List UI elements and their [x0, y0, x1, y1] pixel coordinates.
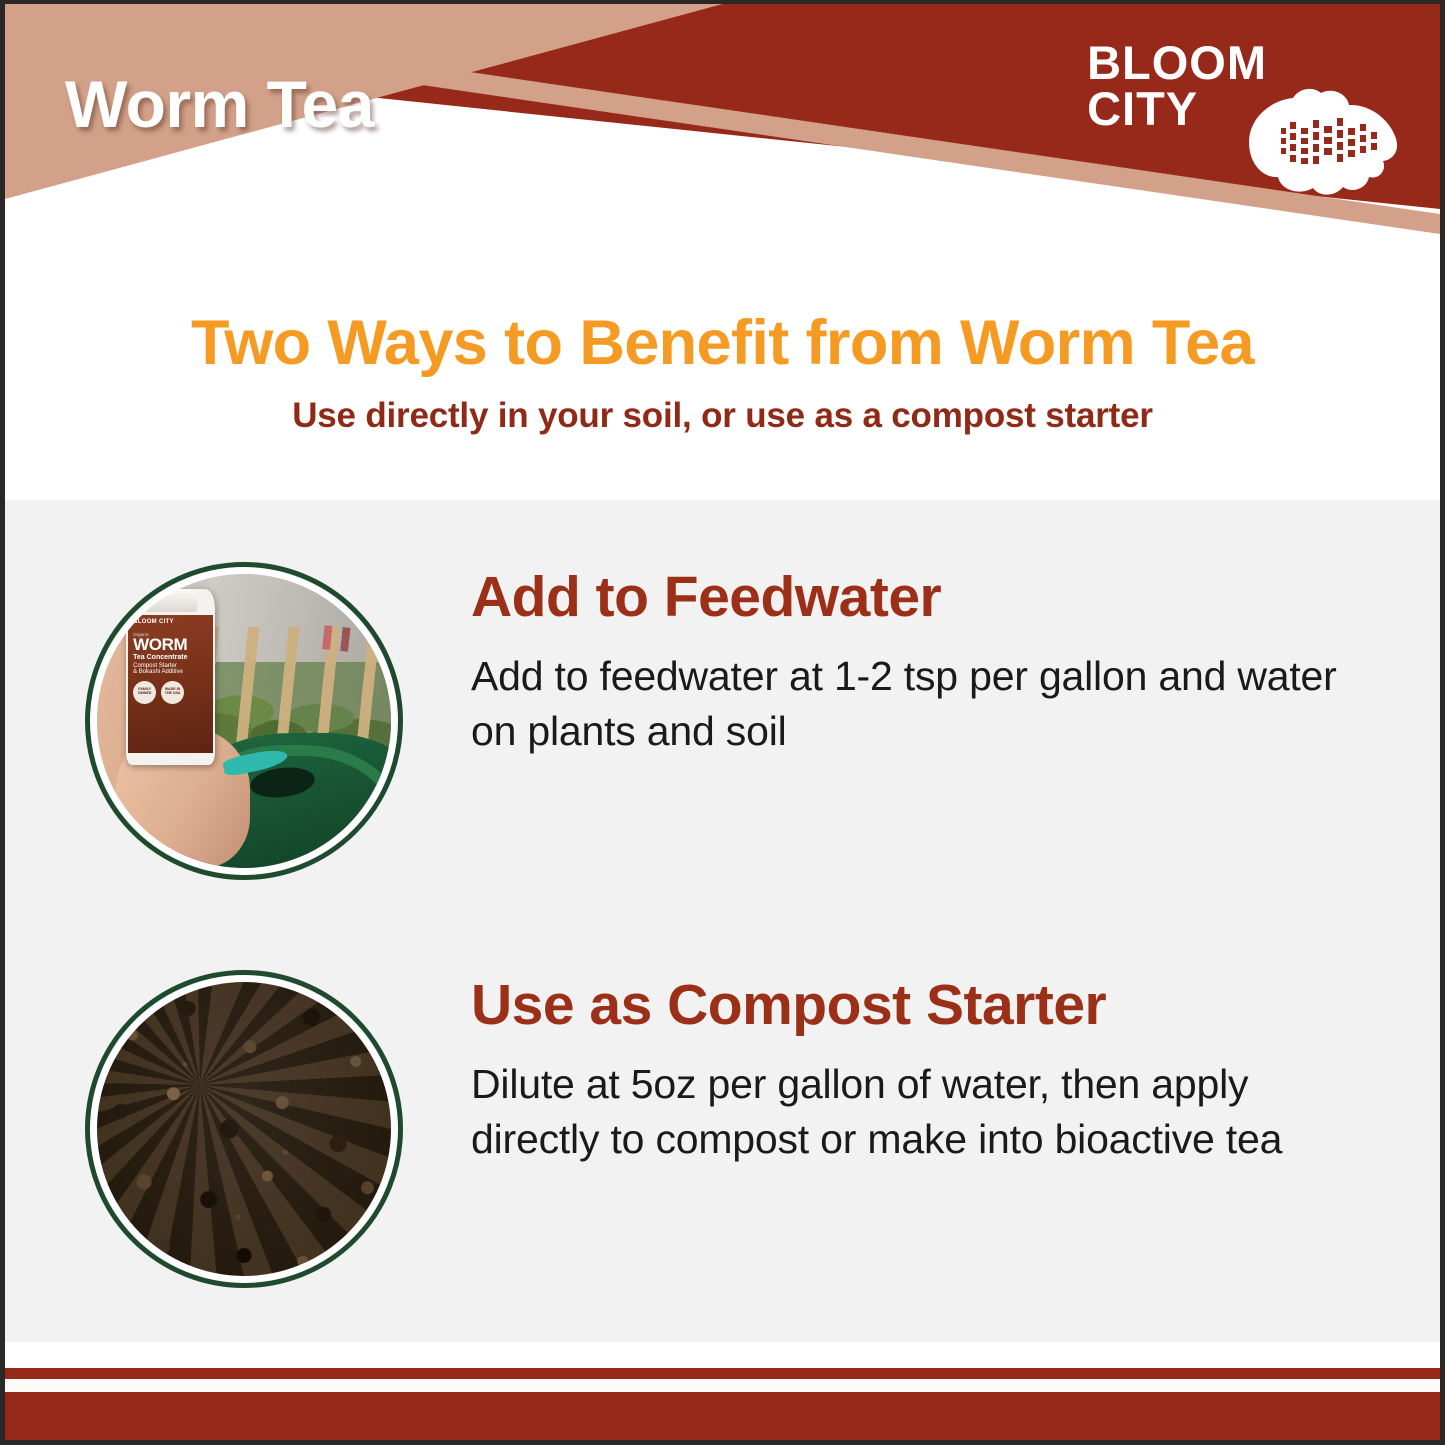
product-bottle: BLOOM CITY Organic WORM Tea Concentrate …: [126, 589, 214, 765]
benefit-item-feedwater: BLOOM CITY Organic WORM Tea Concentrate …: [85, 562, 1370, 880]
benefit-title-compost: Use as Compost Starter: [471, 976, 1370, 1035]
benefit-item-compost: Use as Compost Starter Dilute at 5oz per…: [85, 970, 1370, 1288]
benefit-description-compost: Dilute at 5oz per gallon of water, then …: [471, 1035, 1351, 1166]
benefit-text-feedwater: Add to Feedwater Add to feedwater at 1-2…: [403, 562, 1370, 758]
bottle-label-line-3: & Bokashi Additive: [133, 669, 208, 675]
bottle-label-line-1: Tea Concentrate: [133, 654, 208, 662]
benefit-photo-compost: [85, 970, 403, 1288]
brand-logo-line-1: BLOOM: [1087, 40, 1267, 86]
footer-thin-red-stripe: [5, 1368, 1440, 1379]
benefit-photo-compost-inner: [97, 982, 391, 1276]
benefit-photo-feedwater-inner: BLOOM CITY Organic WORM Tea Concentrate …: [97, 574, 391, 868]
footer-white-gap: [5, 1342, 1440, 1368]
bottle-label-badges: FAMILY OWNED MADE IN THE USA: [133, 681, 208, 704]
benefit-photo-feedwater: BLOOM CITY Organic WORM Tea Concentrate …: [85, 562, 403, 880]
brand-logo: BLOOM CITY: [1087, 32, 1402, 204]
footer-red-band: [5, 1392, 1440, 1440]
leaf-cityscape-logo-mark-icon: [1237, 84, 1402, 204]
product-bottle-label: BLOOM CITY Organic WORM Tea Concentrate …: [128, 615, 213, 753]
scene-compost-soil: [97, 982, 391, 1276]
product-bottle-cap: [139, 589, 197, 612]
headline-section: Two Ways to Benefit from Worm Tea Use di…: [5, 254, 1440, 500]
benefit-description-feedwater: Add to feedwater at 1-2 tsp per gallon a…: [471, 627, 1351, 758]
footer-white-stripe: [5, 1379, 1440, 1392]
bottle-label-product: WORM: [133, 637, 208, 653]
main-headline: Two Ways to Benefit from Worm Tea: [5, 254, 1440, 376]
benefit-text-compost: Use as Compost Starter Dilute at 5oz per…: [403, 970, 1370, 1166]
benefit-title-feedwater: Add to Feedwater: [471, 568, 1370, 627]
bottle-label-brand: BLOOM CITY: [133, 619, 208, 625]
bottle-badge-2: MADE IN THE USA: [161, 681, 184, 704]
benefits-panel: BLOOM CITY Organic WORM Tea Concentrate …: [5, 500, 1440, 1342]
bottle-badge-1: FAMILY OWNED: [133, 681, 156, 704]
scene-feedwater: BLOOM CITY Organic WORM Tea Concentrate …: [97, 574, 391, 868]
header-banner: Worm Tea BLOOM CITY: [5, 4, 1440, 254]
infographic-page: Worm Tea BLOOM CITY: [0, 0, 1445, 1445]
sub-headline: Use directly in your soil, or use as a c…: [5, 376, 1440, 436]
infographic-canvas: Worm Tea BLOOM CITY: [5, 4, 1440, 1440]
page-title: Worm Tea: [65, 66, 374, 142]
